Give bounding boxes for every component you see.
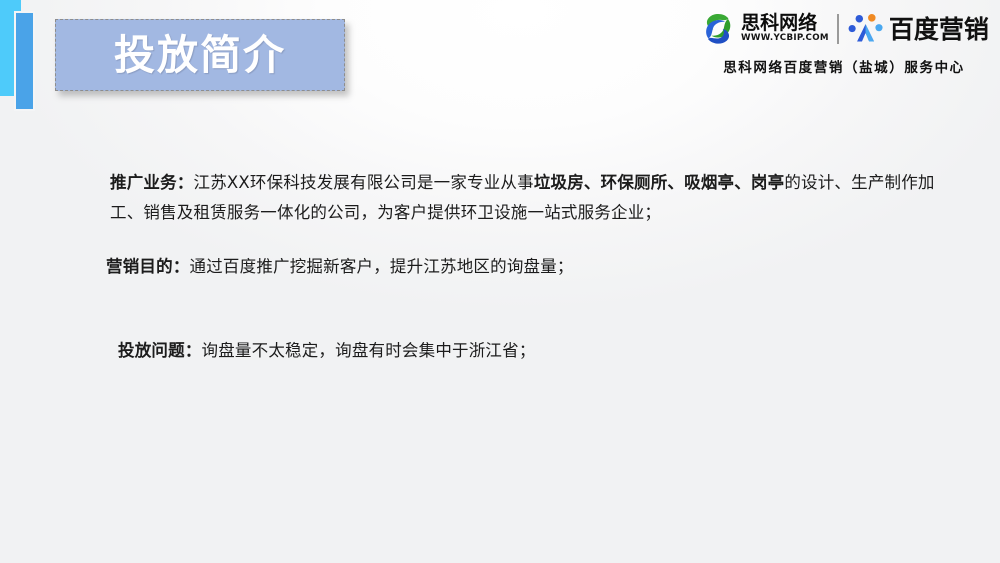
logo-row: 思科网络 WWW.YCBIP.COM 百度营销 xyxy=(699,8,989,50)
paragraph-segment: 通过百度推广挖掘新客户，提升江苏地区的询盘量； xyxy=(190,257,574,276)
siki-network-logo: 思科网络 WWW.YCBIP.COM xyxy=(699,10,827,48)
baidu-marketing-logo: 百度营销 xyxy=(848,12,989,46)
paragraph-colon: ： xyxy=(173,257,190,276)
logo-subtitle: 思科网络百度营销（盐城）服务中心 xyxy=(723,56,965,76)
paragraph-label: 推广业务 xyxy=(110,173,177,192)
paragraph-label: 投放问题 xyxy=(118,341,185,360)
siki-s-swoosh-icon xyxy=(699,10,737,48)
paragraph-colon: ： xyxy=(185,341,202,360)
paragraph-colon: ： xyxy=(177,173,194,192)
siki-wordmark: 思科网络 WWW.YCBIP.COM xyxy=(741,14,827,43)
paragraph-label: 营销目的 xyxy=(106,257,173,276)
baidu-name-cn: 百度营销 xyxy=(889,17,989,42)
logo-divider xyxy=(837,14,839,44)
left-accent-bar-blue xyxy=(14,11,35,111)
paragraph-segment: 询盘量不太稳定，询盘有时会集中于浙江省； xyxy=(202,341,536,360)
slide-canvas: 投放简介 思科网络 WWW.YCBIP.COM xyxy=(0,0,1000,563)
paragraph-segment: 江苏XX环保科技发展有限公司是一家专业从事 xyxy=(194,173,534,192)
page-title: 投放简介 xyxy=(114,35,286,76)
brand-logo-block: 思科网络 WWW.YCBIP.COM 百度营销 xyxy=(694,8,994,76)
siki-url: WWW.YCBIP.COM xyxy=(741,34,829,43)
baidu-bear-paw-icon xyxy=(848,12,884,46)
paragraph-segment-emphasis: 垃圾房、环保厕所、吸烟亭、岗亭 xyxy=(534,173,785,192)
paragraph-promotion-business: 推广业务：江苏XX环保科技发展有限公司是一家专业从事垃圾房、环保厕所、吸烟亭、岗… xyxy=(110,168,955,228)
paragraph-marketing-goal: 营销目的：通过百度推广挖掘新客户，提升江苏地区的询盘量； xyxy=(106,252,574,282)
paragraph-delivery-problem: 投放问题：询盘量不太稳定，询盘有时会集中于浙江省； xyxy=(118,336,536,366)
siki-name-cn: 思科网络 xyxy=(741,14,827,34)
slide-title-banner: 投放简介 xyxy=(55,19,345,91)
